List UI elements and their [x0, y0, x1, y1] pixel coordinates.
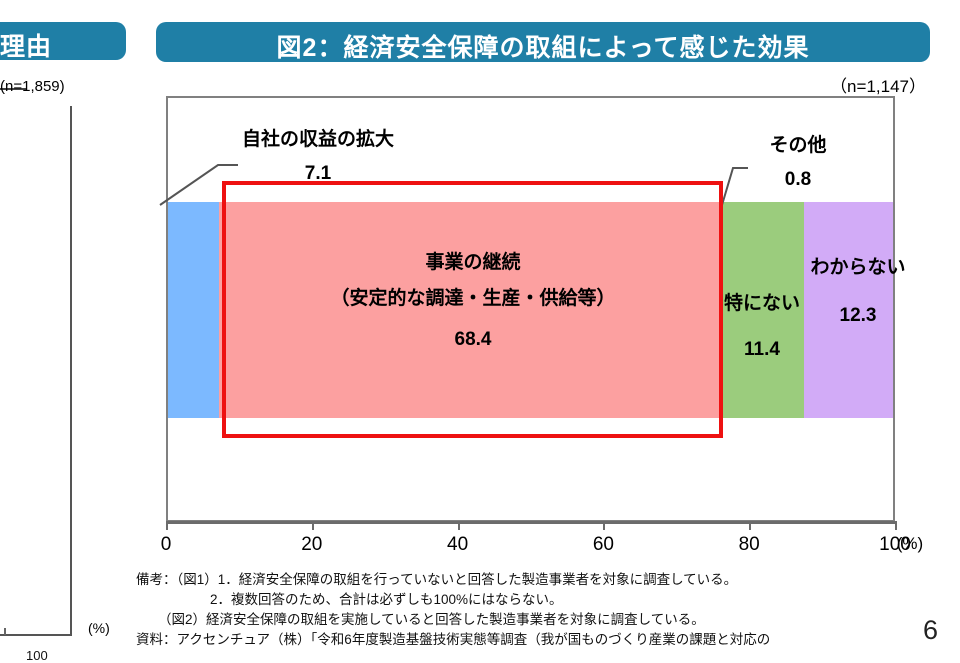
bar-label-dont-know-name: わからない [798, 255, 918, 281]
footnote-line-3: （図2）経済安全保障の取組を実施していると回答した製造事業者を対象に調査している… [136, 610, 836, 630]
x-tick-80 [749, 521, 751, 530]
x-tick-label-60: 60 [593, 534, 614, 556]
x-tick-20 [312, 521, 314, 530]
x-tick-label-40: 40 [447, 534, 468, 556]
x-tick-label-0: 0 [161, 534, 172, 556]
callout-own-profit-label: 自社の収益の拡大 [178, 124, 458, 151]
left-partial-figure: 理由 (n=1,859) (%) 100 [0, 0, 136, 656]
bar-label-dont-know: わからない 12.3 [798, 255, 918, 328]
left-figure-sample-size: (n=1,859) [0, 78, 136, 95]
x-tick-40 [458, 521, 460, 530]
left-figure-title: 理由 [0, 27, 126, 63]
x-tick-0 [166, 521, 168, 530]
x-axis-unit: (%) [897, 534, 923, 554]
bar-segment-0 [168, 202, 219, 418]
footnote-line-4: 資料：アクセンチュア（株）「令和6年度製造基盤技術実態等調査（我が国ものづくり産… [136, 630, 836, 650]
footnote-line-2: 2．複数回答のため、合計は必ずしも100%にはならない。 [136, 590, 836, 610]
x-tick-60 [603, 521, 605, 530]
x-tick-100 [895, 521, 897, 530]
x-tick-label-80: 80 [739, 534, 760, 556]
callout-other-value: 0.8 [718, 169, 878, 191]
callout-other-label: その他 [718, 130, 878, 157]
page-number: 6 [923, 615, 938, 646]
left-figure-horizontal-axis [0, 634, 72, 636]
left-figure-axis-unit: (%) [88, 620, 110, 636]
page-title: 図2：経済安全保障の取組によって感じた効果 [156, 28, 930, 64]
left-figure-axis-tick [4, 628, 6, 635]
bar-label-none-in-particular-name: 特にない [712, 291, 812, 317]
sample-size-label: （n=1,147） [830, 72, 926, 97]
x-axis-line [166, 521, 895, 524]
footnotes: 備考：（図1）1．経済安全保障の取組を行っていないと回答した製造事業者を対象に調… [136, 570, 836, 649]
highlight-rectangle [222, 181, 723, 438]
callout-own-profit: 自社の収益の拡大 7.1 [178, 124, 458, 185]
callout-other: その他 0.8 [718, 130, 878, 191]
x-tick-label-20: 20 [301, 534, 322, 556]
footnote-line-1: 備考：（図1）1．経済安全保障の取組を行っていないと回答した製造事業者を対象に調… [136, 570, 836, 590]
bar-label-dont-know-value: 12.3 [798, 303, 918, 329]
bar-label-none-in-particular-value: 11.4 [712, 337, 812, 363]
left-figure-vertical-axis [70, 106, 72, 636]
bar-label-none-in-particular: 特にない 11.4 [712, 291, 812, 362]
